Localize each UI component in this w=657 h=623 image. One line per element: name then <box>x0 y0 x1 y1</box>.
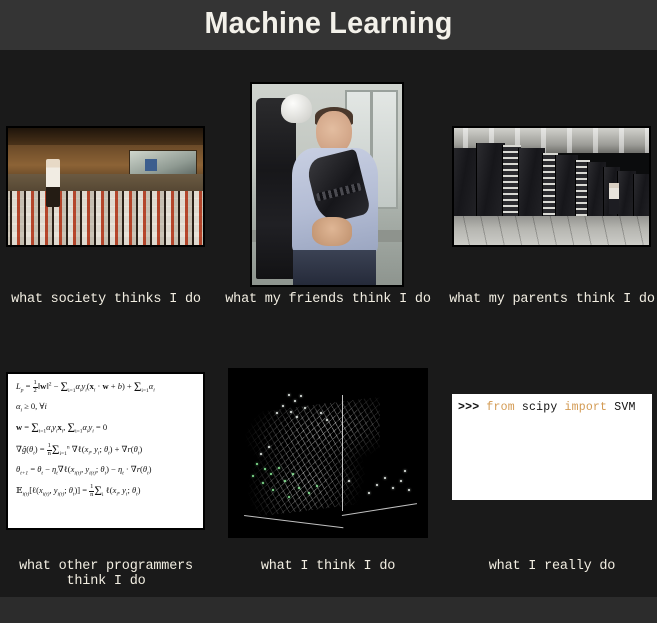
equation-alpha-constraint: αi ≥ 0, ∀i <box>16 402 197 415</box>
panel-society <box>6 126 205 247</box>
caption-society: what society thinks I do <box>2 292 210 307</box>
meme-image: Machine Learning what society thinks I d… <box>0 0 657 623</box>
python-shell-output: >>> from scipy import SVM <box>452 394 652 500</box>
module-name: scipy <box>515 401 565 414</box>
server-room-illustration <box>452 126 651 247</box>
panel-parents <box>452 126 651 247</box>
robot-lab-illustration <box>250 82 404 287</box>
keyword-from: from <box>486 401 514 414</box>
robot-arm <box>256 98 296 278</box>
caption-parents: what my parents think I do <box>448 292 656 307</box>
shell-prompt: >>> <box>458 401 486 414</box>
svm-decision-surface <box>228 368 428 538</box>
auditorium-ceiling <box>6 126 205 145</box>
man-legs <box>293 250 376 287</box>
caption-i-really-do: what I really do <box>448 559 656 574</box>
panel-friends <box>250 82 404 287</box>
keyword-import: import <box>565 401 608 414</box>
footer-band <box>0 597 657 623</box>
page-title: Machine Learning <box>23 2 634 46</box>
equation-lagrangian: Lp = 12‖w‖2 − Σi=1αiyi(xi · w + b) + Σi=… <box>16 380 197 395</box>
server-rack <box>518 148 545 216</box>
auditorium-illustration <box>6 126 205 247</box>
panel-equations: Lp = 12‖w‖2 − Σi=1αiyi(xi · w + b) + Σi=… <box>6 372 205 530</box>
server-rack <box>476 143 505 216</box>
man-clasped-hands <box>312 217 352 246</box>
equation-sheet: Lp = 12‖w‖2 − Σi=1αiyi(xi · w + b) + Σi=… <box>6 372 205 530</box>
server-room-technician <box>609 183 619 214</box>
svm-axis-left <box>244 515 343 528</box>
caption-i-think: what I think I do <box>224 559 432 574</box>
robot-head <box>281 94 312 123</box>
server-rack <box>633 174 651 215</box>
svm-axis-vertical <box>342 395 343 511</box>
auditorium-person <box>46 159 60 207</box>
panel-python-shell: >>> from scipy import SVM <box>452 394 652 500</box>
server-rack <box>452 148 479 216</box>
equation-gradient-estimate: ∇ĝ(θt) = 1nΣi=1n ∇ℓ(xi, yi; θt) + ∇r(θt) <box>16 443 197 458</box>
caption-friends: what my friends think I do <box>224 292 432 307</box>
imported-symbol: SVM <box>607 401 635 414</box>
svm-mesh-surface <box>244 397 380 519</box>
panel-svm-plot <box>228 368 428 538</box>
caption-other-programmers: what other programmers think I do <box>2 559 210 589</box>
server-room-floor <box>452 213 651 247</box>
equation-w-expansion: w = Σi=1αiyixi, Σi=1αiyi = 0 <box>16 421 197 436</box>
equation-sgd-update: θt+1 = θt − ηt∇ℓ(xi(t), yi(t); θt) − ηt … <box>16 465 197 478</box>
equation-expectation: 𝔼i(t)[ℓ(xi(t), yi(t); θt)] = 1nΣi ℓ(xi, … <box>16 484 197 499</box>
auditorium-robot-rows <box>6 167 205 247</box>
